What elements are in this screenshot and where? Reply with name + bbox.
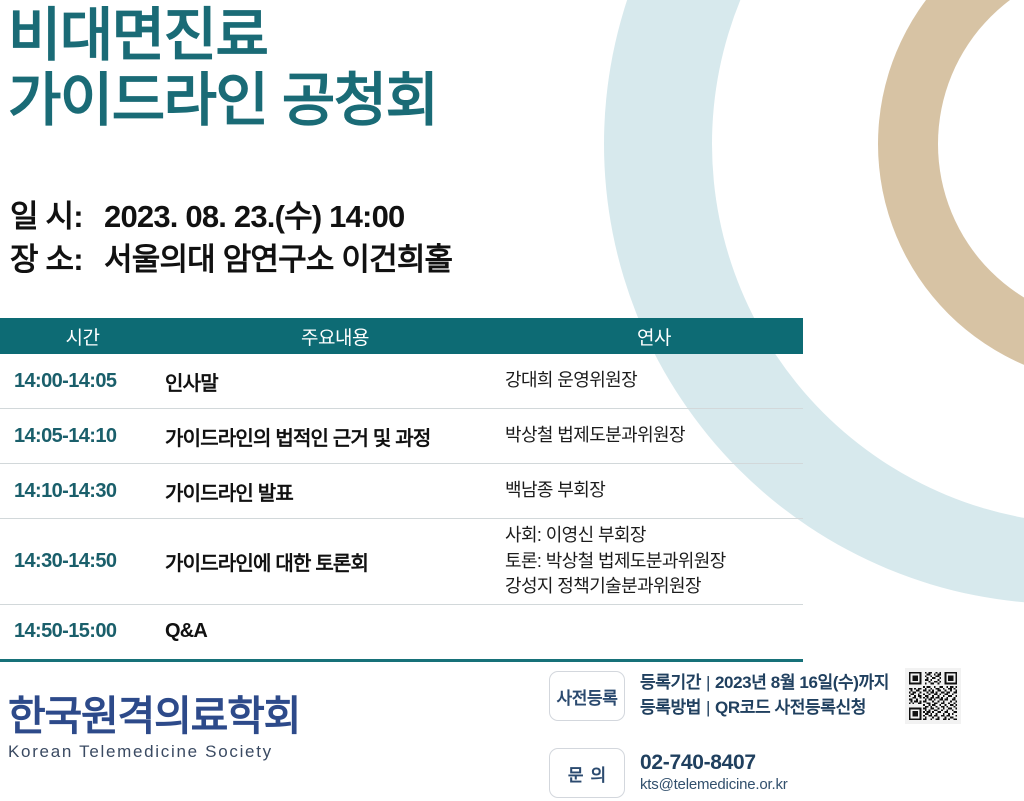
poster-title: 비대면진료 가이드라인 공청회 [8,4,648,134]
registration-method-value: QR코드 사전등록신청 [715,698,866,717]
contact-email[interactable]: kts@telemedicine.or.kr [640,775,788,795]
society-name-english: Korean Telemedicine Society [8,742,348,762]
contact-block: 문의 02-740-8407 kts@telemedicine.or.kr [549,748,788,798]
contact-phone[interactable]: 02-740-8407 [640,750,788,775]
registration-method-line: 등록방법|QR코드 사전등록신청 [640,696,889,721]
column-header-speaker: 연사 [505,323,803,350]
contact-chip: 문의 [549,748,625,798]
society-logo: 한국원격의료학회 Korean Telemedicine Society [8,694,348,762]
cell-speaker: 사회: 이영신 부회장 토론: 박상철 법제도분과위원장 강성지 정책기술분과위… [505,523,803,600]
event-venue-row: 장 소: 서울의대 암연구소 이건희홀 [10,239,630,282]
qr-code-icon[interactable] [905,668,961,724]
society-name-korean: 한국원격의료학회 [8,694,348,738]
table-row: 14:10-14:30 가이드라인 발표 백남종 부회장 [0,464,803,519]
cell-time: 14:10-14:30 [0,480,165,503]
event-meta: 일 시: 2023. 08. 23.(수) 14:00 장 소: 서울의대 암연… [10,196,630,282]
event-venue-label: 장 소: [10,239,104,282]
pre-registration-block: 사전등록 등록기간|2023년 8월 16일(수)까지 등록방법|QR코드 사전… [549,668,961,724]
cell-time: 14:30-14:50 [0,550,165,573]
column-header-time: 시간 [0,323,165,350]
program-table: 시간 주요내용 연사 14:00-14:05 인사말 강대희 운영위원장 14:… [0,318,803,662]
column-header-topic: 주요내용 [165,323,505,350]
registration-period-value: 2023년 8월 16일(수)까지 [715,673,889,692]
registration-method-label: 등록방법 [640,698,701,717]
event-datetime-row: 일 시: 2023. 08. 23.(수) 14:00 [10,196,630,239]
cell-speaker: 강대희 운영위원장 [505,368,803,394]
cell-topic: 가이드라인에 대한 토론회 [165,547,505,576]
contact-text: 02-740-8407 kts@telemedicine.or.kr [640,750,788,795]
cell-topic: 인사말 [165,367,505,396]
cell-time: 14:00-14:05 [0,370,165,393]
cell-time: 14:50-15:00 [0,620,165,643]
cell-speaker: 박상철 법제도분과위원장 [505,423,803,449]
cell-speaker: 백남종 부회장 [505,478,803,504]
cell-topic: Q&A [165,620,505,643]
poster-canvas: 비대면진료 가이드라인 공청회 일 시: 2023. 08. 23.(수) 14… [0,0,1024,801]
event-datetime-value: 2023. 08. 23.(수) 14:00 [104,196,404,239]
pre-registration-chip: 사전등록 [549,671,625,721]
cell-time: 14:05-14:10 [0,425,165,448]
table-row: 14:00-14:05 인사말 강대희 운영위원장 [0,354,803,409]
title-line-2: 가이드라인 공청회 [8,69,648,134]
event-datetime-label: 일 시: [10,196,104,239]
title-line-1: 비대면진료 [8,4,648,69]
event-venue-value: 서울의대 암연구소 이건희홀 [104,239,452,282]
registration-separator-1: | [701,673,715,692]
registration-period-line: 등록기간|2023년 8월 16일(수)까지 [640,671,889,696]
table-header-row: 시간 주요내용 연사 [0,318,803,354]
cell-topic: 가이드라인의 법적인 근거 및 과정 [165,422,505,451]
registration-separator-2: | [701,698,715,717]
pre-registration-text: 등록기간|2023년 8월 16일(수)까지 등록방법|QR코드 사전등록신청 [640,671,889,720]
table-row: 14:30-14:50 가이드라인에 대한 토론회 사회: 이영신 부회장 토론… [0,519,803,605]
cell-topic: 가이드라인 발표 [165,477,505,506]
registration-period-label: 등록기간 [640,673,701,692]
table-row: 14:05-14:10 가이드라인의 법적인 근거 및 과정 박상철 법제도분과… [0,409,803,464]
table-row: 14:50-15:00 Q&A [0,605,803,659]
